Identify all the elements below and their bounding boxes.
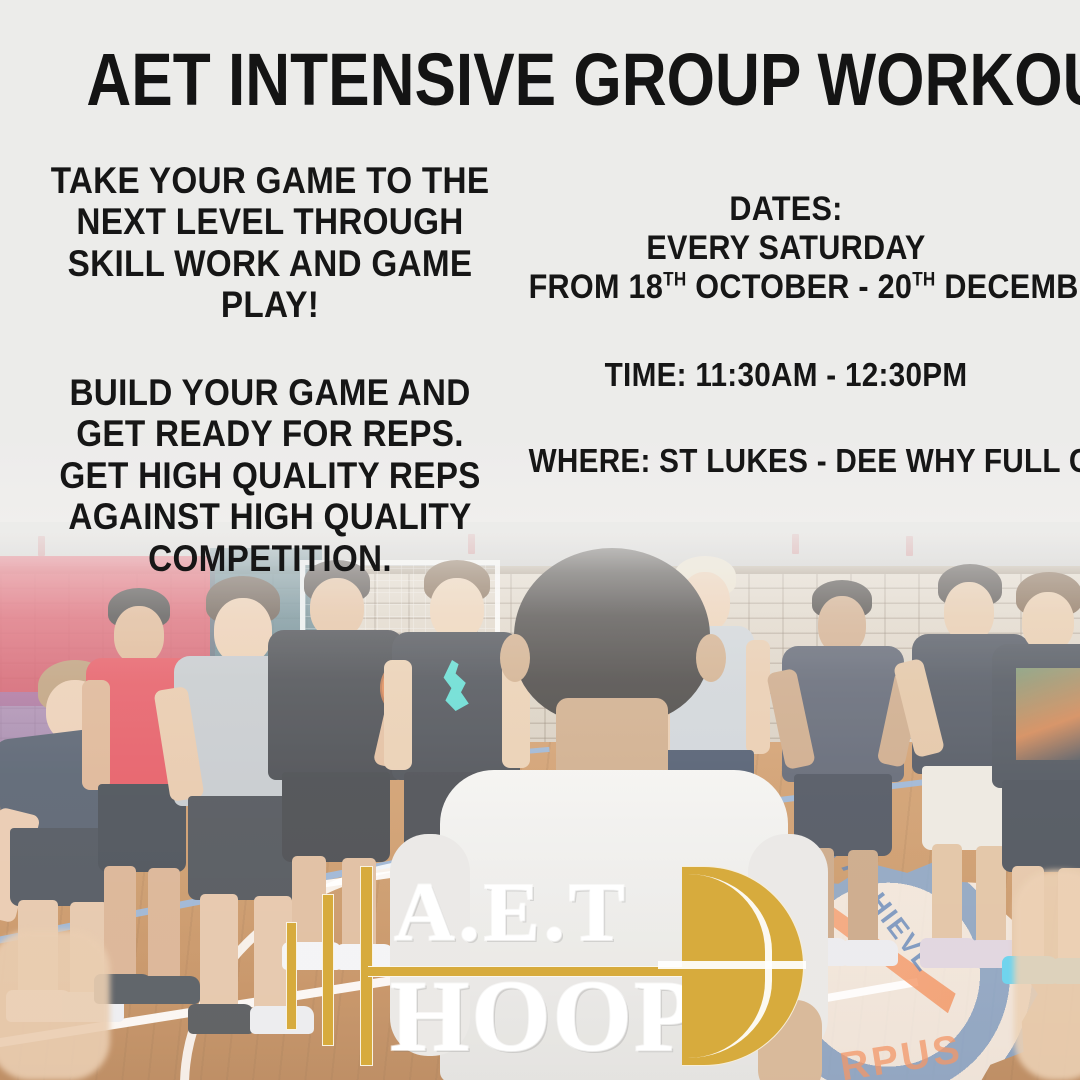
where-line: WHERE: ST LUKES - DEE WHY FULL COURT — [529, 442, 1044, 480]
left-copy-column: TAKE YOUR GAME TO THE NEXT LEVEL THROUGH… — [14, 160, 526, 579]
right-details-column: DATES: EVERY SATURDAY FROM 18TH OCTOBER … — [500, 190, 1072, 480]
dates-range-middle: OCTOBER - 20 — [687, 268, 913, 306]
page-title: AET INTENSIVE GROUP WORKOUT — [86, 44, 993, 117]
time-line: TIME: 11:30AM - 12:30PM — [529, 356, 1044, 394]
dates-range-suffix: DECEMBER — [936, 268, 1080, 306]
logo-half-basketball-icon — [682, 866, 804, 1066]
ordinal-suffix-second: TH — [912, 269, 935, 290]
aet-hoops-logo: A.E.T HOOPS — [286, 866, 802, 1080]
ordinal-suffix-first: TH — [663, 269, 686, 290]
dates-line-2: FROM 18TH OCTOBER - 20TH DECEMBER — [529, 268, 1044, 307]
left-paragraph-2: BUILD YOUR GAME AND GET READY FOR REPS. … — [40, 372, 501, 579]
logo-text-aet: A.E.T — [394, 864, 629, 961]
dates-range-prefix: FROM 18 — [529, 268, 664, 306]
logo-bar-short — [286, 922, 297, 1030]
dates-label: DATES: — [529, 190, 1044, 229]
left-paragraph-1: TAKE YOUR GAME TO THE NEXT LEVEL THROUGH… — [40, 160, 501, 326]
logo-bar-medium — [322, 894, 334, 1046]
poster-root: WE ACHIEVE RPUS — [0, 0, 1080, 1080]
dates-line-1: EVERY SATURDAY — [529, 229, 1044, 268]
basketball-horizontal-seam — [658, 961, 806, 969]
